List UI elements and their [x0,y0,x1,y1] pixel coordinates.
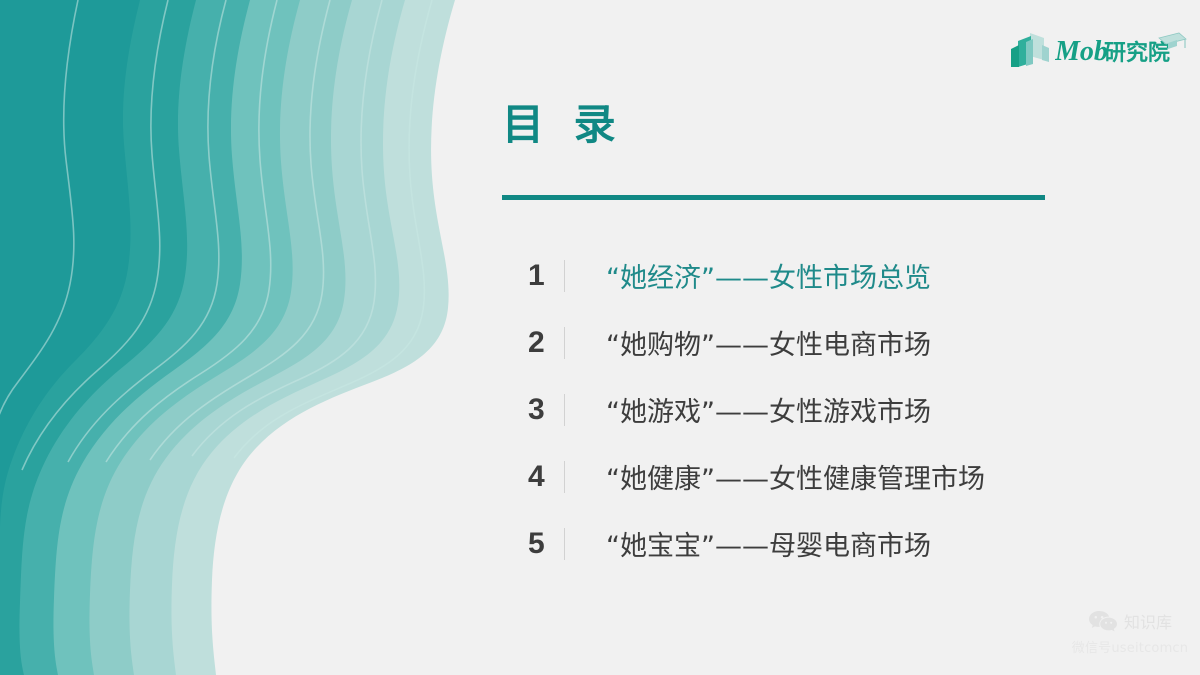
toc-item-1[interactable]: 1 “她经济”——女性市场总览 [502,242,1102,309]
wave-layer-6 [0,0,405,675]
watermark-top-row: 知识库 [1060,606,1200,636]
toc-item-label: “她购物”——女性电商市场 [565,323,1102,362]
wave-layer-5 [0,0,352,675]
wave-layer-group [0,0,455,675]
wave-layer-1 [0,0,140,675]
mob-research-institute-logo: Mob 研究院 [1008,24,1190,76]
wechat-icon [1088,609,1118,633]
toc-item-5[interactable]: 5 “她宝宝”——母婴电商市场 [502,510,1102,577]
title-underline-rule [502,195,1045,200]
teal-wave-decoration [0,0,460,675]
toc-item-number: 5 [502,527,564,561]
table-of-contents-list: 1 “她经济”——女性市场总览 2 “她购物”——女性电商市场 3 “她游戏”—… [502,242,1102,577]
wave-contour-lines [0,0,432,470]
wave-layer-7 [0,0,455,675]
svg-text:Mob: Mob [1055,36,1108,67]
toc-item-number: 4 [502,460,564,494]
toc-item-number: 3 [502,393,564,427]
toc-item-4[interactable]: 4 “她健康”——女性健康管理市场 [502,443,1102,510]
toc-item-3[interactable]: 3 “她游戏”——女性游戏市场 [502,376,1102,443]
wave-layer-3 [0,0,250,675]
slide-canvas: Mob 研究院 目 录 1 “她经济”——女性市场总览 2 “她购物”——女性电… [0,0,1200,675]
page-title: 目 录 [502,104,625,146]
toc-item-label: “她宝宝”——母婴电商市场 [565,524,1102,563]
svg-text:研究院: 研究院 [1104,40,1170,66]
toc-item-number: 2 [502,326,564,360]
watermark: 知识库 微信号useitcomcn [1060,606,1200,664]
toc-item-label: “她经济”——女性市场总览 [565,256,1102,295]
watermark-handle: 微信号useitcomcn [1060,637,1200,656]
toc-item-number: 1 [502,259,564,293]
mob-bar-building-mark [1008,29,1052,71]
toc-item-label: “她健康”——女性健康管理市场 [565,457,1102,496]
toc-item-2[interactable]: 2 “她购物”——女性电商市场 [502,309,1102,376]
mob-wordmark: Mob 研究院 [1055,28,1187,72]
wave-layer-4 [0,0,300,675]
watermark-brand: 知识库 [1124,609,1172,633]
wave-layer-2 [0,0,196,675]
toc-item-label: “她游戏”——女性游戏市场 [565,390,1102,429]
